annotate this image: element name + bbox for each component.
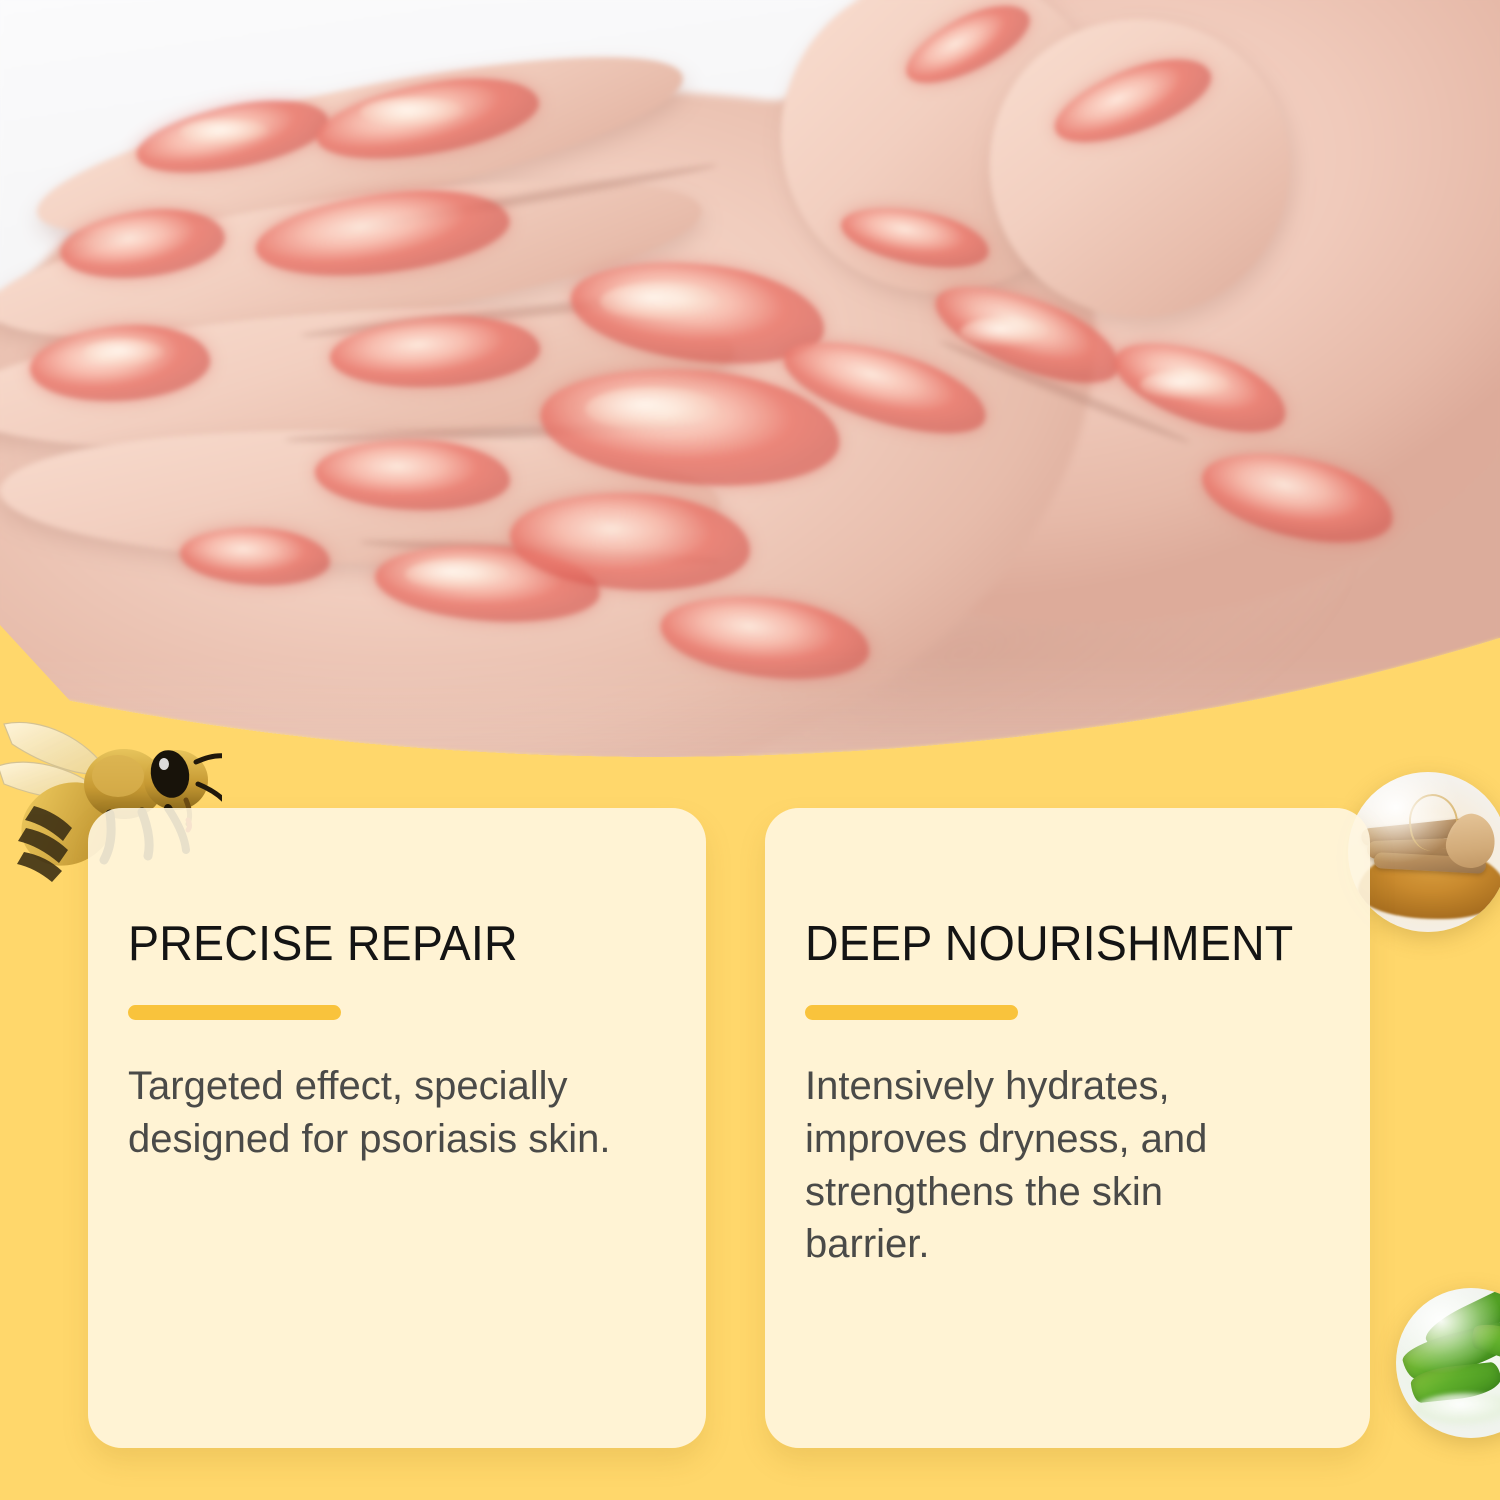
card-title: PRECISE REPAIR <box>128 920 633 969</box>
accent-bar <box>128 1005 341 1020</box>
benefit-card-precise-repair: PRECISE REPAIR Targeted effect, speciall… <box>88 808 706 1448</box>
banner-stage: PRECISE REPAIR Targeted effect, speciall… <box>0 0 1500 1500</box>
card-body-text: Targeted effect, specially designed for … <box>128 1060 648 1166</box>
card-body-text: Intensively hydrates, improves dryness, … <box>805 1060 1275 1271</box>
benefit-card-deep-nourishment: DEEP NOURISHMENT Intensively hydrates, i… <box>765 808 1370 1448</box>
card-title: DEEP NOURISHMENT <box>805 920 1298 969</box>
accent-bar <box>805 1005 1018 1020</box>
benefit-cards: PRECISE REPAIR Targeted effect, speciall… <box>0 0 1500 1500</box>
